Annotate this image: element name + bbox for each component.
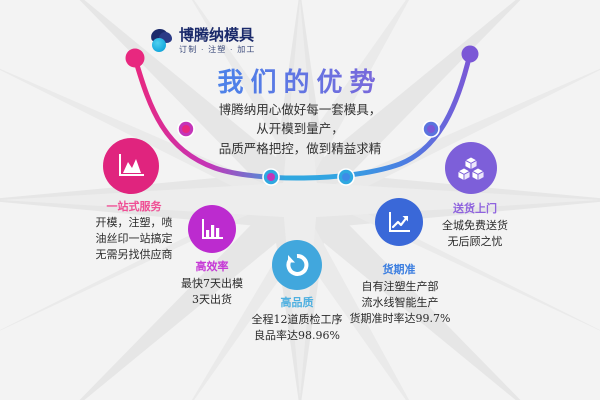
feature-title-high-quality: 高品质	[257, 294, 337, 310]
feature-title-door-delivery: 送货上门	[429, 200, 521, 216]
feature-line: 全城免费送货	[421, 218, 529, 234]
curve-node-6	[462, 46, 479, 63]
intro-description: 博腾纳用心做好每一套模具， 从开模到量产， 品质严格把控，做到精益求精	[0, 100, 600, 158]
feature-line: 全程12道质检工序	[236, 312, 358, 328]
quality-refresh-icon	[284, 252, 310, 278]
feature-title-high-efficiency: 高效率	[172, 258, 252, 274]
feature-icon-high-quality[interactable]	[272, 240, 322, 290]
growth-trend-icon	[387, 211, 411, 234]
intro-line-2: 从开模到量产，	[0, 119, 600, 138]
infographic-canvas: 博腾纳模具 订制 · 注塑 · 加工 我们的优势 博腾纳用心做好每一套模具， 从…	[0, 0, 600, 400]
feature-body-on-time-delivery: 自有注塑生产部 流水线智能生产 货期准时率达99.7%	[343, 279, 457, 327]
feature-line: 开模，注塑，喷	[80, 215, 188, 231]
intro-line-1: 博腾纳用心做好每一套模具，	[0, 100, 600, 119]
feature-line: 良品率达98.96%	[236, 328, 358, 344]
feature-line: 自有注塑生产部	[343, 279, 457, 295]
curve-node-3	[263, 169, 279, 185]
feature-icon-high-efficiency[interactable]	[188, 205, 236, 253]
feature-line: 流水线智能生产	[343, 295, 457, 311]
feature-line: 油丝印一站搞定	[80, 231, 188, 247]
feature-icon-on-time-delivery[interactable]	[375, 198, 423, 246]
feature-line: 3天出货	[158, 292, 266, 308]
bar-chart-icon	[200, 218, 224, 241]
page-title: 我们的优势	[0, 62, 600, 99]
boxes-delivery-icon	[457, 155, 485, 181]
feature-line: 最快7天出模	[158, 276, 266, 292]
intro-line-3: 品质严格把控，做到精益求精	[0, 139, 600, 158]
feature-body-high-quality: 全程12道质检工序 良品率达98.96%	[236, 312, 358, 344]
brand-tagline: 订制 · 注塑 · 加工	[179, 46, 256, 54]
droplet-logo-icon	[148, 28, 174, 54]
feature-title-one-stop-service: 一站式服务	[88, 198, 180, 214]
brand-name: 博腾纳模具	[179, 28, 256, 43]
feature-line: 货期准时率达99.7%	[343, 311, 457, 327]
feature-body-one-stop-service: 开模，注塑，喷 油丝印一站搞定 无需另找供应商	[80, 215, 188, 263]
feature-body-high-efficiency: 最快7天出模 3天出货	[158, 276, 266, 308]
brand-logo: 博腾纳模具 订制 · 注塑 · 加工	[148, 28, 256, 54]
feature-line: 无后顾之忧	[421, 234, 529, 250]
feature-title-on-time-delivery: 货期准	[359, 261, 439, 277]
feature-body-door-delivery: 全城免费送货 无后顾之忧	[421, 218, 529, 250]
curve-node-4	[338, 169, 354, 185]
